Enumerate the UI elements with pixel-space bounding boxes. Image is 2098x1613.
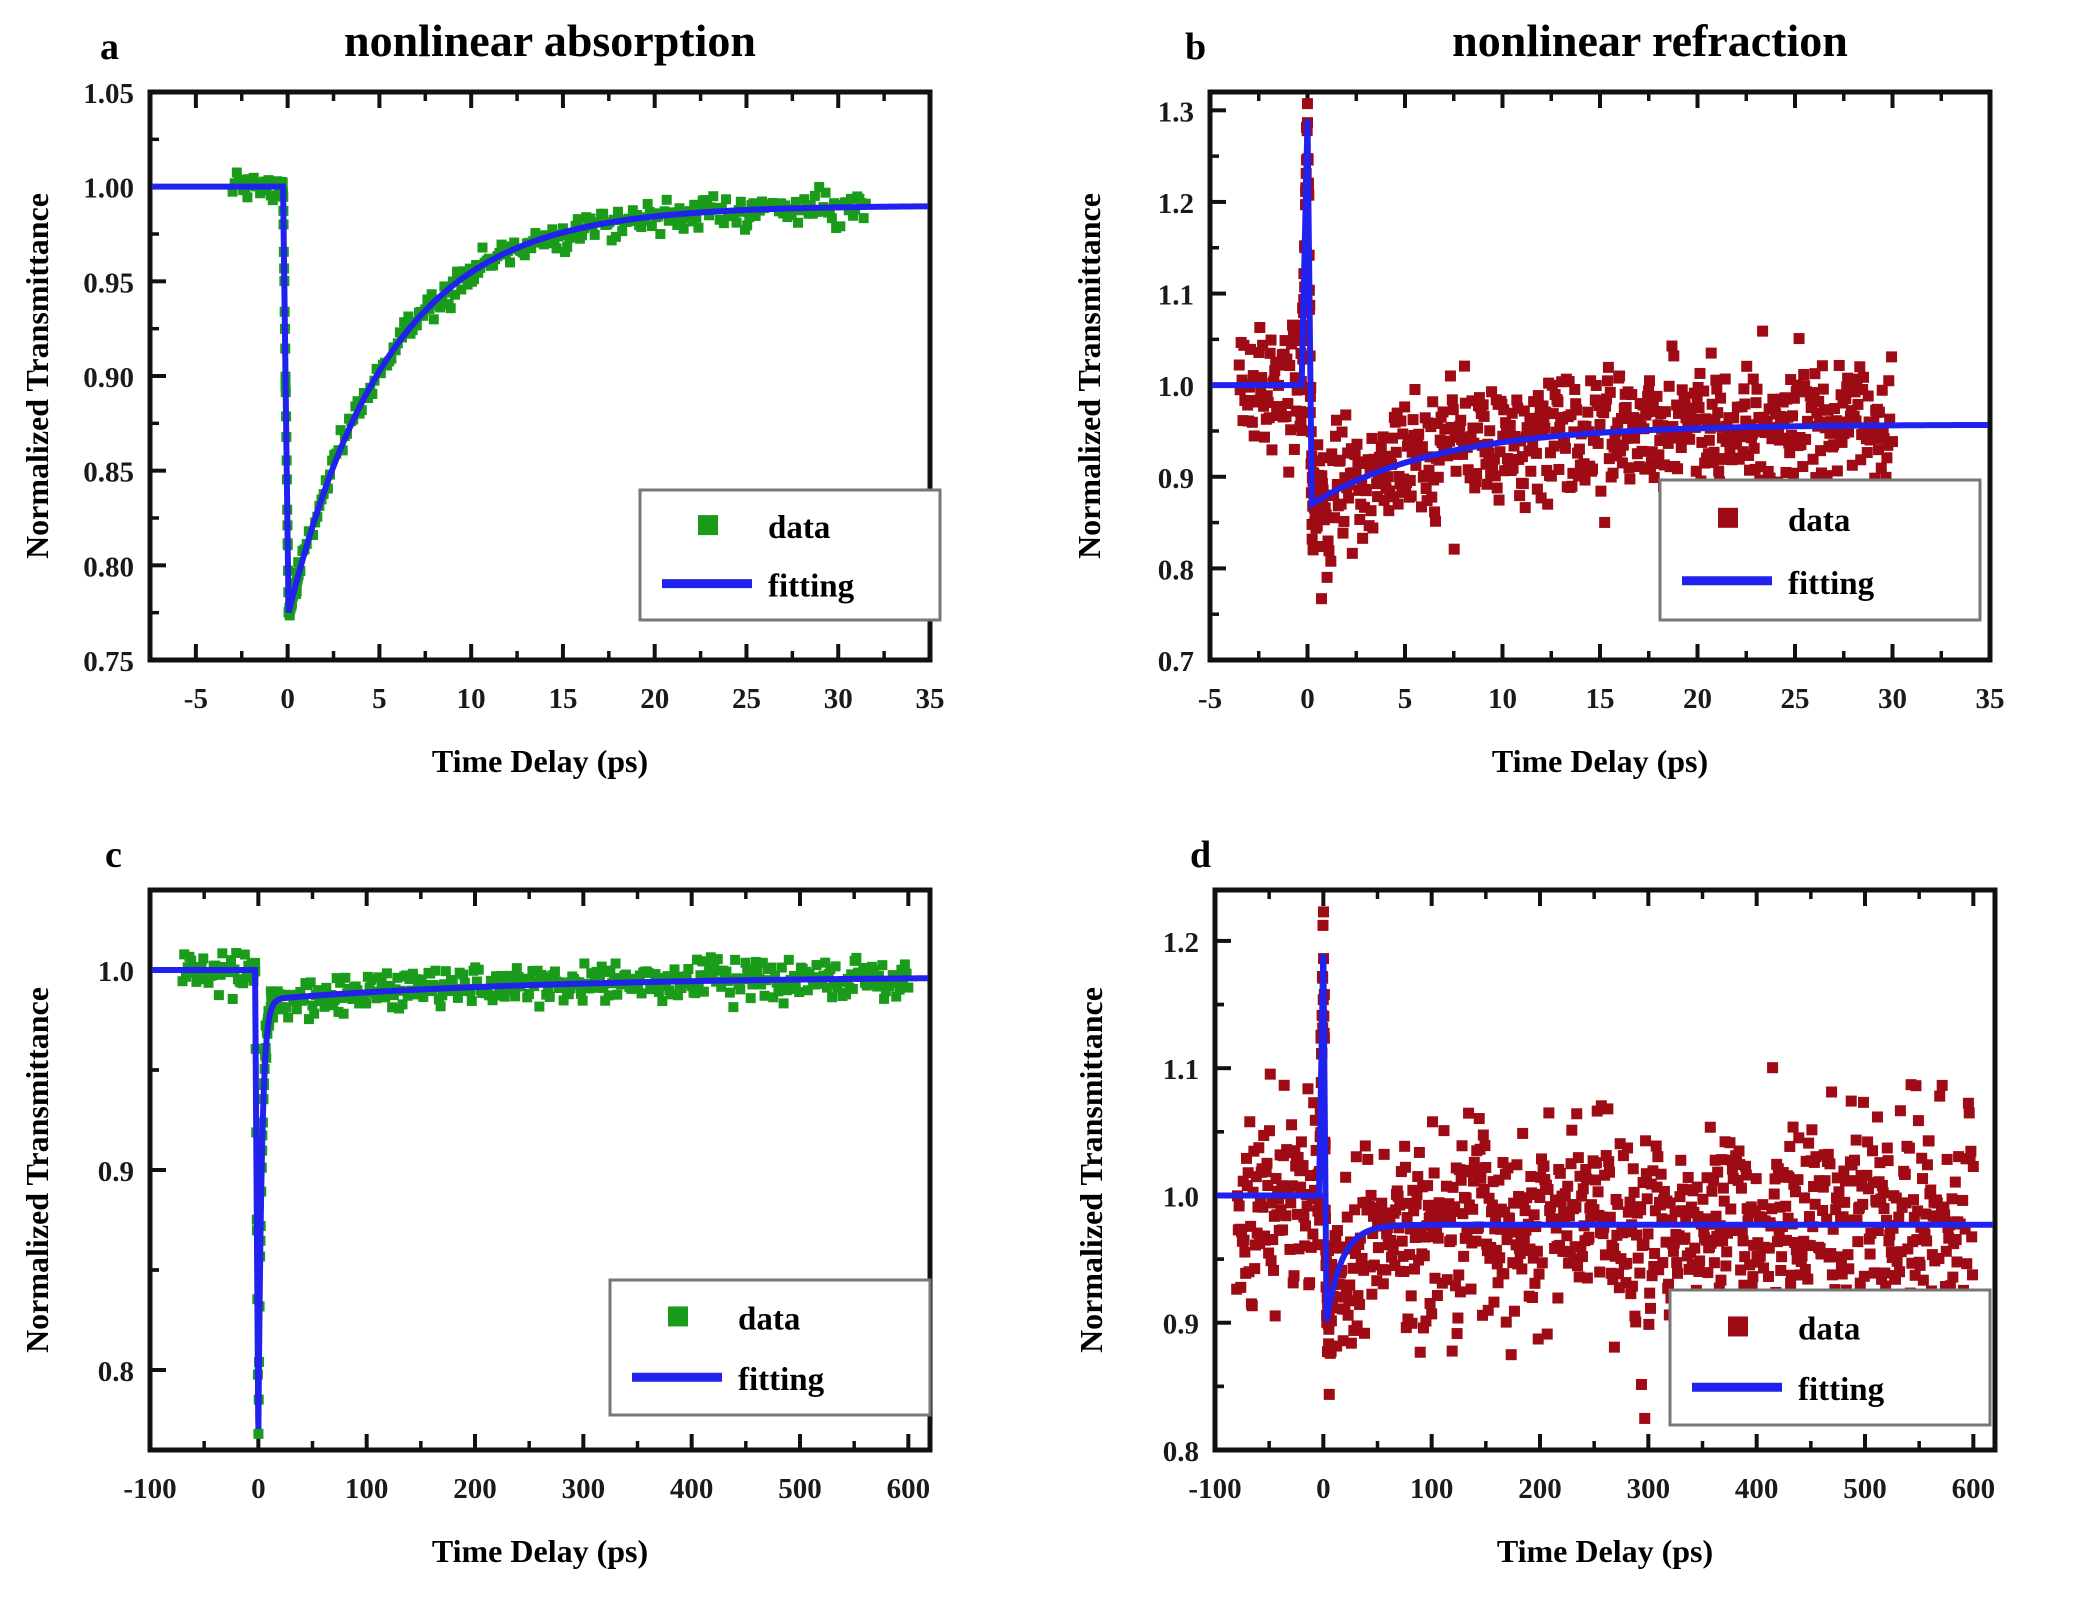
data-point (1775, 1265, 1786, 1276)
data-point (1323, 545, 1334, 556)
x-tick-label: 200 (1518, 1473, 1562, 1505)
data-point (1704, 435, 1715, 446)
y-tick-label: 1.0 (98, 956, 134, 988)
y-tick-label: 1.2 (1163, 927, 1199, 959)
data-point (1895, 1105, 1906, 1116)
y-tick-label: 0.9 (1163, 1309, 1199, 1341)
data-point (1694, 402, 1705, 413)
data-point (1623, 462, 1634, 473)
x-tick-label: 400 (1735, 1473, 1779, 1505)
data-point (1833, 1186, 1844, 1197)
x-tick-label: 30 (824, 683, 853, 715)
data-point (1721, 1246, 1732, 1257)
data-point (1738, 383, 1749, 394)
data-point (1751, 1173, 1762, 1184)
data-point (612, 990, 622, 1000)
data-point (1361, 485, 1372, 496)
x-tick-label: 10 (457, 683, 486, 715)
data-point (1605, 1212, 1616, 1223)
data-point (1506, 1349, 1517, 1360)
data-point (1867, 1145, 1878, 1156)
data-point (1834, 360, 1845, 371)
data-point (1397, 1236, 1408, 1247)
data-point (1797, 461, 1808, 472)
data-point (1672, 463, 1683, 474)
y-tick-label: 1.2 (1158, 188, 1194, 220)
data-point (1736, 1183, 1747, 1194)
data-point (1351, 1151, 1362, 1162)
data-point (1587, 464, 1598, 475)
data-point (617, 226, 627, 236)
data-point (1360, 1140, 1371, 1151)
data-point (1644, 375, 1655, 386)
data-point (1438, 1125, 1449, 1136)
data-point (1910, 1080, 1921, 1091)
data-point (477, 243, 487, 253)
data-point (1286, 1119, 1297, 1130)
data-point (1788, 1122, 1799, 1133)
data-point (1966, 1231, 1977, 1242)
data-point (1574, 444, 1585, 455)
data-point (1254, 322, 1265, 333)
data-point (1399, 401, 1410, 412)
data-point (784, 955, 794, 965)
data-point (1702, 1267, 1713, 1278)
data-point (1839, 1197, 1850, 1208)
data-point (1947, 1272, 1958, 1283)
data-point (1629, 433, 1640, 444)
data-point (1806, 1124, 1817, 1135)
data-point (1400, 1162, 1411, 1173)
data-point (1636, 1379, 1647, 1390)
x-tick-label: 20 (1683, 683, 1712, 715)
x-tick-label: 15 (548, 683, 577, 715)
data-point (578, 996, 588, 1006)
data-point (1630, 1316, 1641, 1327)
x-tick-label: 25 (732, 683, 761, 715)
data-point (1715, 393, 1726, 404)
data-point (669, 964, 679, 974)
data-point (1852, 399, 1863, 410)
panel-a: -5051015202530350.750.800.850.900.951.00… (0, 60, 1040, 820)
data-point (1453, 1269, 1464, 1280)
data-point (1452, 1313, 1463, 1324)
data-point (1653, 449, 1664, 460)
data-point (1767, 1062, 1778, 1073)
data-point (1725, 1204, 1736, 1215)
data-point (1455, 415, 1466, 426)
x-tick-label: 5 (372, 683, 387, 715)
data-point (1239, 1247, 1250, 1258)
data-point (1663, 1279, 1674, 1290)
data-point (1656, 1169, 1667, 1180)
data-point (1706, 1186, 1717, 1197)
data-point (1651, 391, 1662, 402)
data-point (1264, 1125, 1275, 1136)
data-point (1582, 1273, 1593, 1284)
data-point (848, 984, 858, 994)
y-tick-label: 1.0 (1163, 1181, 1199, 1213)
data-point (1359, 1328, 1370, 1339)
data-point (1823, 1149, 1834, 1160)
data-point (1709, 1257, 1720, 1268)
data-point (1338, 516, 1349, 527)
data-point (1915, 1260, 1926, 1271)
data-point (1346, 1338, 1357, 1349)
data-point (1391, 447, 1402, 458)
data-point (1253, 1142, 1264, 1153)
y-axis-title: Normalized Transmittance (1073, 987, 1109, 1353)
data-point (1398, 1266, 1409, 1277)
x-tick-label: 600 (1952, 1473, 1996, 1505)
data-point (474, 965, 484, 975)
x-tick-label: 10 (1488, 683, 1517, 715)
data-point (1652, 1151, 1663, 1162)
data-point (1924, 1135, 1935, 1146)
data-point (1824, 1158, 1835, 1169)
data-point (1668, 350, 1679, 361)
data-point (1337, 427, 1348, 438)
x-tick-label: 500 (1843, 1473, 1887, 1505)
data-point (1922, 1159, 1933, 1170)
data-point (1635, 1204, 1646, 1215)
data-point (1803, 1138, 1814, 1149)
data-point (1644, 1288, 1655, 1299)
data-point (1642, 1193, 1653, 1204)
data-point (1675, 1155, 1686, 1166)
data-point (1437, 406, 1448, 417)
data-point (1965, 1146, 1976, 1157)
data-point (1637, 446, 1648, 457)
data-point (1560, 443, 1571, 454)
data-point (1683, 1172, 1694, 1183)
data-point (1277, 1224, 1288, 1235)
data-point (1614, 371, 1625, 382)
data-point (1633, 1253, 1644, 1264)
data-point (283, 1013, 293, 1023)
data-point (1854, 361, 1865, 372)
data-point (1917, 1173, 1928, 1184)
data-point (1298, 1160, 1309, 1171)
data-point (611, 959, 621, 969)
data-point (1951, 1234, 1962, 1245)
data-point (1851, 1135, 1862, 1146)
data-point (361, 998, 371, 1008)
data-point (1712, 1167, 1723, 1178)
data-point (281, 1002, 291, 1012)
data-point (1769, 1189, 1780, 1200)
chart-a: -5051015202530350.750.800.850.900.951.00… (0, 60, 1040, 820)
data-point (1366, 1289, 1377, 1300)
data-point (1711, 1211, 1722, 1222)
x-tick-label: 500 (778, 1473, 822, 1505)
data-point (1858, 1097, 1869, 1108)
data-point (1235, 1282, 1246, 1293)
data-point (1514, 490, 1525, 501)
data-point (1542, 1329, 1553, 1340)
data-point (1318, 906, 1329, 917)
data-point (903, 983, 913, 993)
data-point (1432, 1290, 1443, 1301)
data-point (1511, 1159, 1522, 1170)
data-point (1430, 516, 1441, 527)
data-point (1479, 1140, 1490, 1151)
data-point (1715, 1275, 1726, 1286)
data-point (1798, 369, 1809, 380)
data-point (1891, 1192, 1902, 1203)
data-point (1612, 1199, 1623, 1210)
data-point (1842, 1249, 1853, 1260)
x-tick-label: 15 (1586, 683, 1615, 715)
data-point (1942, 1154, 1953, 1165)
data-point (1679, 1232, 1690, 1243)
data-point (1424, 1212, 1435, 1223)
data-point (1757, 326, 1768, 337)
data-point (877, 960, 887, 970)
data-point (1882, 1143, 1893, 1154)
data-point (1713, 466, 1724, 477)
y-tick-label: 1.05 (83, 78, 134, 110)
data-point (1879, 1268, 1890, 1279)
data-point (1694, 1255, 1705, 1266)
data-point (1562, 1181, 1573, 1192)
x-tick-label: 200 (453, 1473, 497, 1505)
data-point (231, 948, 241, 958)
data-point (1934, 1091, 1945, 1102)
data-point (1367, 522, 1378, 533)
data-point (510, 991, 520, 1001)
x-tick-label: 300 (1627, 1473, 1671, 1505)
data-point (1629, 1187, 1640, 1198)
data-point (1639, 1413, 1650, 1424)
x-tick-label: 0 (280, 683, 295, 715)
data-point (1602, 375, 1613, 386)
data-point (398, 999, 408, 1009)
data-point (382, 968, 392, 978)
data-point (1624, 473, 1635, 484)
data-point (1566, 481, 1577, 492)
data-point (1325, 556, 1336, 567)
data-point (1925, 1185, 1936, 1196)
data-point (240, 950, 250, 960)
data-point (1280, 1210, 1291, 1221)
data-point (1315, 508, 1326, 519)
x-tick-label: 600 (887, 1473, 931, 1505)
data-point (1505, 420, 1516, 431)
data-point (794, 987, 804, 997)
data-point (1832, 465, 1843, 476)
y-axis-title: Normalized Transmittance (19, 193, 55, 559)
data-point (1429, 1167, 1440, 1178)
y-tick-label: 0.75 (83, 646, 134, 678)
data-point (1751, 384, 1762, 395)
data-point (1638, 1239, 1649, 1250)
data-point (1459, 361, 1470, 372)
data-point (1859, 1271, 1870, 1282)
data-point (1800, 434, 1811, 445)
data-point (1716, 1154, 1727, 1165)
data-point (1651, 1141, 1662, 1152)
data-point (827, 992, 837, 1002)
data-point (713, 954, 723, 964)
data-point (1451, 466, 1462, 477)
chart-d: -10001002003004005006000.80.91.01.11.2Ti… (1050, 860, 2090, 1610)
data-point (1963, 1098, 1974, 1109)
data-point (1382, 471, 1393, 482)
panel-c: -10001002003004005006000.80.91.0Time Del… (0, 860, 1040, 1610)
data-point (1817, 360, 1828, 371)
data-point (429, 314, 439, 324)
y-tick-label: 0.90 (83, 362, 134, 394)
data-point (1950, 1177, 1961, 1188)
data-point (1792, 1174, 1803, 1185)
data-point (1643, 1228, 1654, 1239)
data-point (1452, 1328, 1463, 1339)
data-point (1446, 1234, 1457, 1245)
data-point (1804, 1211, 1815, 1222)
data-point (1621, 1258, 1632, 1269)
data-point (217, 948, 227, 958)
panel-title-b: nonlinear refraction (1290, 18, 2010, 64)
data-point (1591, 1157, 1602, 1168)
data-point (1280, 411, 1291, 422)
data-point (1518, 478, 1529, 489)
data-point (1883, 375, 1894, 386)
data-point (1904, 1143, 1915, 1154)
legend-marker-data (1728, 1316, 1748, 1336)
data-point (1475, 1173, 1486, 1184)
data-point (1747, 1271, 1758, 1282)
data-point (1749, 443, 1760, 454)
data-point (1427, 396, 1438, 407)
data-point (1887, 436, 1898, 447)
y-tick-label: 1.1 (1163, 1054, 1199, 1086)
data-point (1543, 1184, 1554, 1195)
data-point (1427, 1116, 1438, 1127)
data-point (699, 987, 709, 997)
data-point (1463, 1108, 1474, 1119)
data-point (1538, 1160, 1549, 1171)
data-point (1672, 1268, 1683, 1279)
y-tick-label: 0.8 (98, 1356, 134, 1388)
x-tick-label: 100 (1410, 1473, 1454, 1505)
panel-d: -10001002003004005006000.80.91.01.11.2Ti… (1050, 860, 2090, 1610)
figure-root: a nonlinear absorption -5051015202530350… (0, 0, 2098, 1613)
data-point (1426, 1308, 1437, 1319)
data-point (1413, 429, 1424, 440)
data-point (1520, 502, 1531, 513)
y-tick-label: 1.0 (1158, 371, 1194, 403)
data-point (1739, 399, 1750, 410)
data-point (579, 958, 589, 968)
data-point (1405, 475, 1416, 486)
data-point (1458, 1251, 1469, 1262)
data-point (1478, 1130, 1489, 1141)
data-point (851, 953, 861, 963)
data-point (1466, 1284, 1477, 1295)
data-point (760, 991, 770, 1001)
y-tick-label: 0.8 (1163, 1436, 1199, 1468)
data-point (1594, 1267, 1605, 1278)
data-point (1879, 1203, 1890, 1214)
data-point (1604, 1167, 1615, 1178)
data-point (1307, 1229, 1318, 1240)
data-point (1900, 1169, 1911, 1180)
data-point (1289, 1270, 1300, 1281)
x-tick-label: 25 (1781, 683, 1810, 715)
data-point (812, 960, 822, 970)
data-point (831, 961, 841, 971)
data-point (1304, 1277, 1315, 1288)
data-point (1566, 1125, 1577, 1136)
data-point (1595, 486, 1606, 497)
data-point (1406, 490, 1417, 501)
data-point (1692, 1182, 1703, 1193)
data-point (1921, 1235, 1932, 1246)
data-point (683, 964, 693, 974)
data-point (1794, 333, 1805, 344)
data-point (1720, 1260, 1731, 1271)
data-point (1449, 544, 1460, 555)
data-point (1234, 359, 1245, 370)
data-point (1537, 1257, 1548, 1268)
data-point (657, 996, 667, 1006)
data-point (637, 988, 647, 998)
x-tick-label: 0 (251, 1473, 266, 1505)
data-point (1516, 1263, 1527, 1274)
data-point (1322, 572, 1333, 583)
data-point (1296, 1136, 1307, 1147)
data-point (1908, 1194, 1919, 1205)
data-point (900, 959, 910, 969)
data-point (505, 257, 515, 267)
data-point (228, 994, 238, 1004)
data-point (1780, 1201, 1791, 1212)
data-point (1509, 1306, 1520, 1317)
panel-b: -5051015202530350.70.80.91.01.11.21.3Tim… (1050, 60, 2090, 820)
x-tick-label: -100 (1188, 1473, 1241, 1505)
data-point (1268, 1265, 1279, 1276)
legend-label-data: data (1798, 1311, 1860, 1347)
data-point (1671, 1257, 1682, 1268)
data-point (1492, 482, 1503, 493)
data-point (1862, 447, 1873, 458)
data-point (1344, 1279, 1355, 1290)
data-point (1602, 1103, 1613, 1114)
data-point (1894, 1266, 1905, 1277)
data-point (1659, 1186, 1670, 1197)
data-point (821, 188, 831, 198)
data-point (590, 230, 600, 240)
data-point (1265, 1069, 1276, 1080)
data-point (1570, 1202, 1581, 1213)
data-point (1379, 1149, 1390, 1160)
data-point (1640, 1135, 1651, 1146)
x-tick-label: 0 (1316, 1473, 1331, 1505)
data-point (512, 963, 522, 973)
data-point (1776, 1251, 1787, 1262)
legend-label-fitting: fitting (1788, 566, 1875, 602)
data-point (779, 998, 789, 1008)
data-point (1517, 1128, 1528, 1139)
data-point (1849, 1155, 1860, 1166)
x-tick-label: -100 (123, 1473, 176, 1505)
data-point (562, 242, 572, 252)
x-tick-label: -5 (1198, 683, 1222, 715)
data-point (1689, 1243, 1700, 1254)
data-point (1698, 386, 1709, 397)
legend-label-data: data (738, 1301, 800, 1337)
